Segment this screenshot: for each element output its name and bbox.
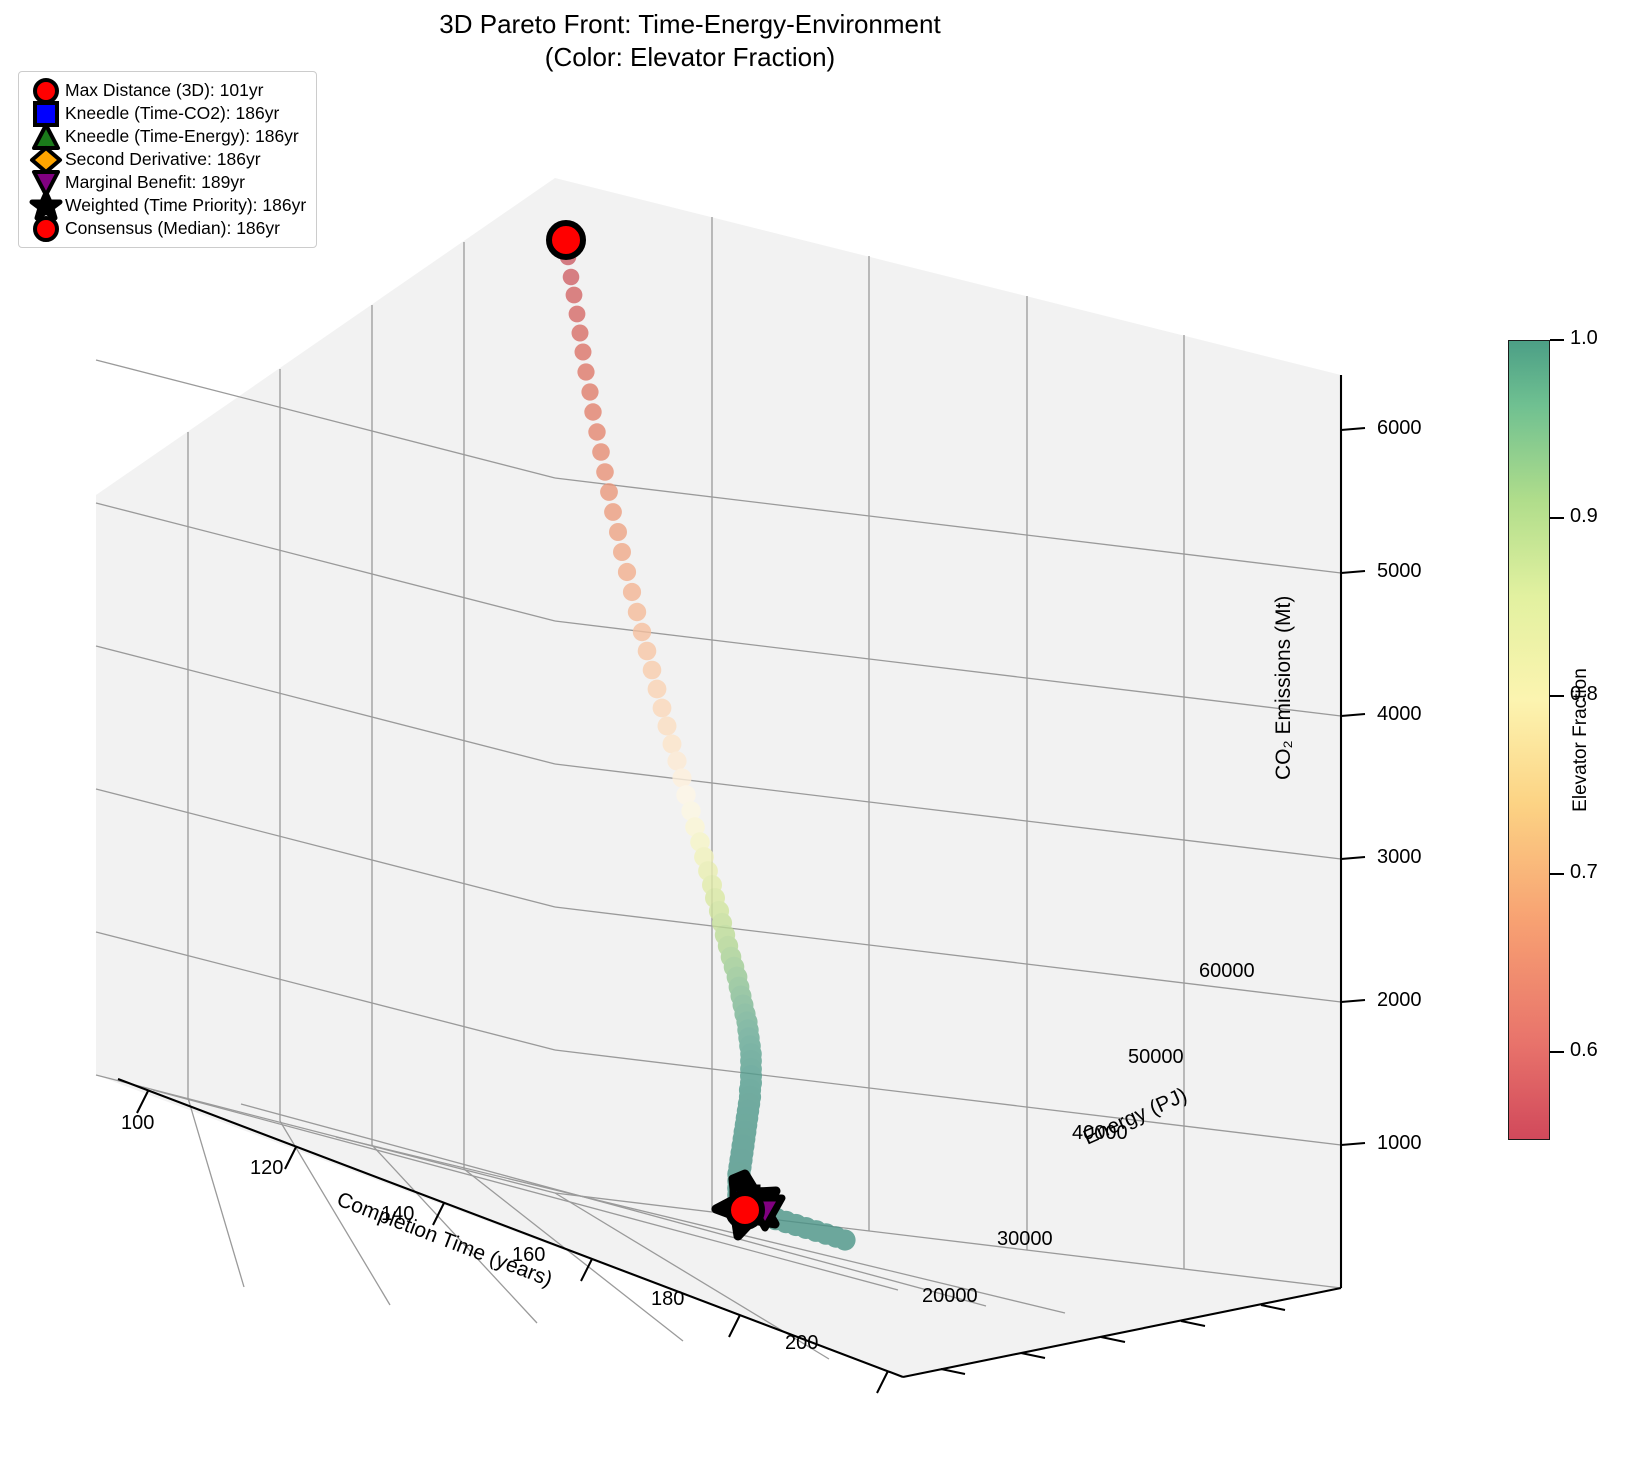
y-tick-label-50000: 50000: [1128, 1046, 1184, 1069]
legend[interactable]: Max Distance (3D): 101yr Kneedle (Time-C…: [18, 71, 317, 248]
z-axis-label: CO₂ Emissions (Mt): [1272, 596, 1296, 780]
x-tick-label-120: 120: [250, 1157, 283, 1180]
x-tick-label-100: 100: [121, 1112, 154, 1135]
legend-item-consensus-median[interactable]: Consensus (Median): 186yr: [27, 217, 306, 240]
pane-left: [96, 178, 555, 1193]
z-tick-label-4000: 4000: [1377, 703, 1422, 726]
legend-label-max-distance: Max Distance (3D): 101yr: [65, 82, 263, 100]
legend-item-max-distance[interactable]: Max Distance (3D): 101yr: [27, 79, 306, 102]
y-tick-label-60000: 60000: [1199, 960, 1255, 983]
legend-label-weighted-time-priority: Weighted (Time Priority): 186yr: [65, 197, 306, 215]
highlight-max-distance-3d: [549, 223, 583, 257]
figure-canvas: 3D Pareto Front: Time-Energy-Environment…: [0, 0, 1635, 1479]
legend-label-second-derivative: Second Derivative: 186yr: [65, 151, 261, 169]
z-axis-ticks: [1341, 428, 1365, 1145]
z-tick-label-5000: 5000: [1377, 560, 1422, 583]
colorbar[interactable]: [1508, 340, 1550, 1140]
colorbar-tick-0-6: 0.6: [1570, 1039, 1598, 1062]
x-tick-label-200: 200: [785, 1332, 818, 1355]
legend-item-kneedle-time-energy[interactable]: Kneedle (Time-Energy): 186yr: [27, 125, 306, 148]
z-tick-label-1000: 1000: [1377, 1132, 1422, 1155]
legend-label-marginal-benefit: Marginal Benefit: 189yr: [65, 174, 245, 192]
legend-label-kneedle-time-co2: Kneedle (Time-CO2): 186yr: [65, 105, 279, 123]
colorbar-gradient: [1508, 340, 1550, 1140]
z-tick-label-3000: 3000: [1377, 846, 1422, 869]
legend-item-marginal-benefit[interactable]: Marginal Benefit: 189yr: [27, 171, 306, 194]
highlight-consensus-median: [728, 1193, 762, 1227]
colorbar-tick-0-9: 0.9: [1570, 505, 1598, 528]
legend-item-second-derivative[interactable]: Second Derivative: 186yr: [27, 148, 306, 171]
z-tick-label-2000: 2000: [1377, 989, 1422, 1012]
legend-circle-icon-2: [27, 217, 65, 240]
y-tick-label-20000: 20000: [922, 1285, 978, 1308]
x-tick-label-180: 180: [651, 1288, 684, 1311]
colorbar-tick-1-0: 1.0: [1570, 327, 1598, 350]
legend-item-weighted-time-priority[interactable]: Weighted (Time Priority): 186yr: [27, 194, 306, 217]
z-tick-label-6000: 6000: [1377, 417, 1422, 440]
colorbar-tick-0-7: 0.7: [1570, 861, 1598, 884]
y-tick-label-30000: 30000: [997, 1228, 1053, 1251]
legend-item-kneedle-time-co2[interactable]: Kneedle (Time-CO2): 186yr: [27, 102, 306, 125]
colorbar-label: Elevator Fraction: [1570, 668, 1592, 812]
legend-label-kneedle-time-energy: Kneedle (Time-Energy): 186yr: [65, 128, 299, 146]
legend-label-consensus-median: Consensus (Median): 186yr: [65, 220, 280, 238]
